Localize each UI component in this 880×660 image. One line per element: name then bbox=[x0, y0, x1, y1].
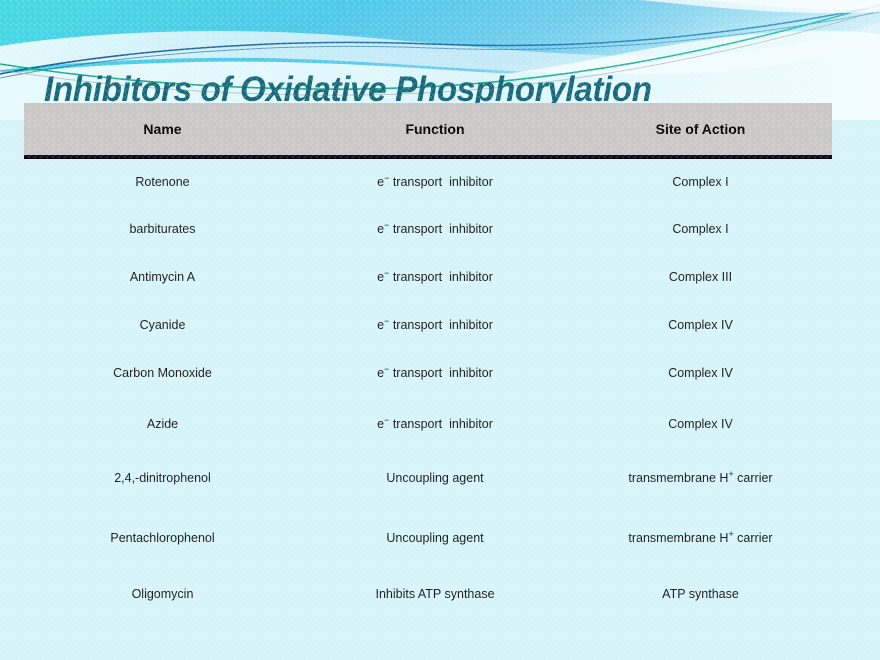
charge-superscript: − bbox=[384, 414, 389, 424]
cell-function: e− transport inhibitor bbox=[301, 397, 569, 450]
column-header-site-of-action: Site of Action bbox=[569, 103, 832, 157]
inhibitors-table: Name Function Site of Action Rotenonee− … bbox=[24, 103, 832, 618]
table-row: PentachlorophenolUncoupling agenttransme… bbox=[24, 506, 832, 570]
cell-function: Uncoupling agent bbox=[301, 506, 569, 570]
cell-inhibitor-name: Carbon Monoxide bbox=[24, 349, 301, 397]
cell-site-of-action: Complex IV bbox=[569, 397, 832, 450]
cell-inhibitor-name: Pentachlorophenol bbox=[24, 506, 301, 570]
cell-site-of-action: Complex IV bbox=[569, 349, 832, 397]
cell-site-of-action: ATP synthase bbox=[569, 570, 832, 618]
charge-superscript: − bbox=[384, 173, 389, 183]
table-header: Name Function Site of Action bbox=[24, 103, 832, 157]
cell-function: e− transport inhibitor bbox=[301, 157, 569, 205]
cell-function: Inhibits ATP synthase bbox=[301, 570, 569, 618]
cell-inhibitor-name: 2,4,-dinitrophenol bbox=[24, 450, 301, 506]
cell-site-of-action: transmembrane H+ carrier bbox=[569, 506, 832, 570]
column-header-function: Function bbox=[301, 103, 569, 157]
cell-function: Uncoupling agent bbox=[301, 450, 569, 506]
charge-superscript: − bbox=[384, 316, 389, 326]
table-row: Cyanidee− transport inhibitorComplex IV bbox=[24, 301, 832, 349]
charge-superscript: − bbox=[384, 268, 389, 278]
charge-superscript: − bbox=[384, 364, 389, 374]
cell-function: e− transport inhibitor bbox=[301, 349, 569, 397]
table-row: Carbon Monoxidee− transport inhibitorCom… bbox=[24, 349, 832, 397]
table-header-row: Name Function Site of Action bbox=[24, 103, 832, 157]
table-row: Rotenonee− transport inhibitorComplex I bbox=[24, 157, 832, 205]
presentation-slide: Inhibitors of Oxidative Phosphorylation … bbox=[0, 0, 880, 660]
charge-superscript: + bbox=[728, 529, 733, 539]
table-row: OligomycinInhibits ATP synthaseATP synth… bbox=[24, 570, 832, 618]
cell-inhibitor-name: Oligomycin bbox=[24, 570, 301, 618]
cell-site-of-action: Complex III bbox=[569, 253, 832, 301]
table-row: barbituratese− transport inhibitorComple… bbox=[24, 205, 832, 253]
cell-inhibitor-name: Cyanide bbox=[24, 301, 301, 349]
cell-inhibitor-name: barbiturates bbox=[24, 205, 301, 253]
cell-site-of-action: Complex IV bbox=[569, 301, 832, 349]
inhibitors-table-container: Name Function Site of Action Rotenonee− … bbox=[24, 103, 832, 618]
column-header-name: Name bbox=[24, 103, 301, 157]
cell-function: e− transport inhibitor bbox=[301, 205, 569, 253]
charge-superscript: + bbox=[728, 469, 733, 479]
cell-site-of-action: transmembrane H+ carrier bbox=[569, 450, 832, 506]
cell-function: e− transport inhibitor bbox=[301, 301, 569, 349]
charge-superscript: − bbox=[384, 220, 389, 230]
cell-site-of-action: Complex I bbox=[569, 157, 832, 205]
cell-function: e− transport inhibitor bbox=[301, 253, 569, 301]
table-row: 2,4,-dinitrophenolUncoupling agenttransm… bbox=[24, 450, 832, 506]
table-row: Antimycin Ae− transport inhibitorComplex… bbox=[24, 253, 832, 301]
cell-site-of-action: Complex I bbox=[569, 205, 832, 253]
table-body: Rotenonee− transport inhibitorComplex Ib… bbox=[24, 157, 832, 618]
cell-inhibitor-name: Antimycin A bbox=[24, 253, 301, 301]
table-row: Azidee− transport inhibitorComplex IV bbox=[24, 397, 832, 450]
cell-inhibitor-name: Azide bbox=[24, 397, 301, 450]
cell-inhibitor-name: Rotenone bbox=[24, 157, 301, 205]
